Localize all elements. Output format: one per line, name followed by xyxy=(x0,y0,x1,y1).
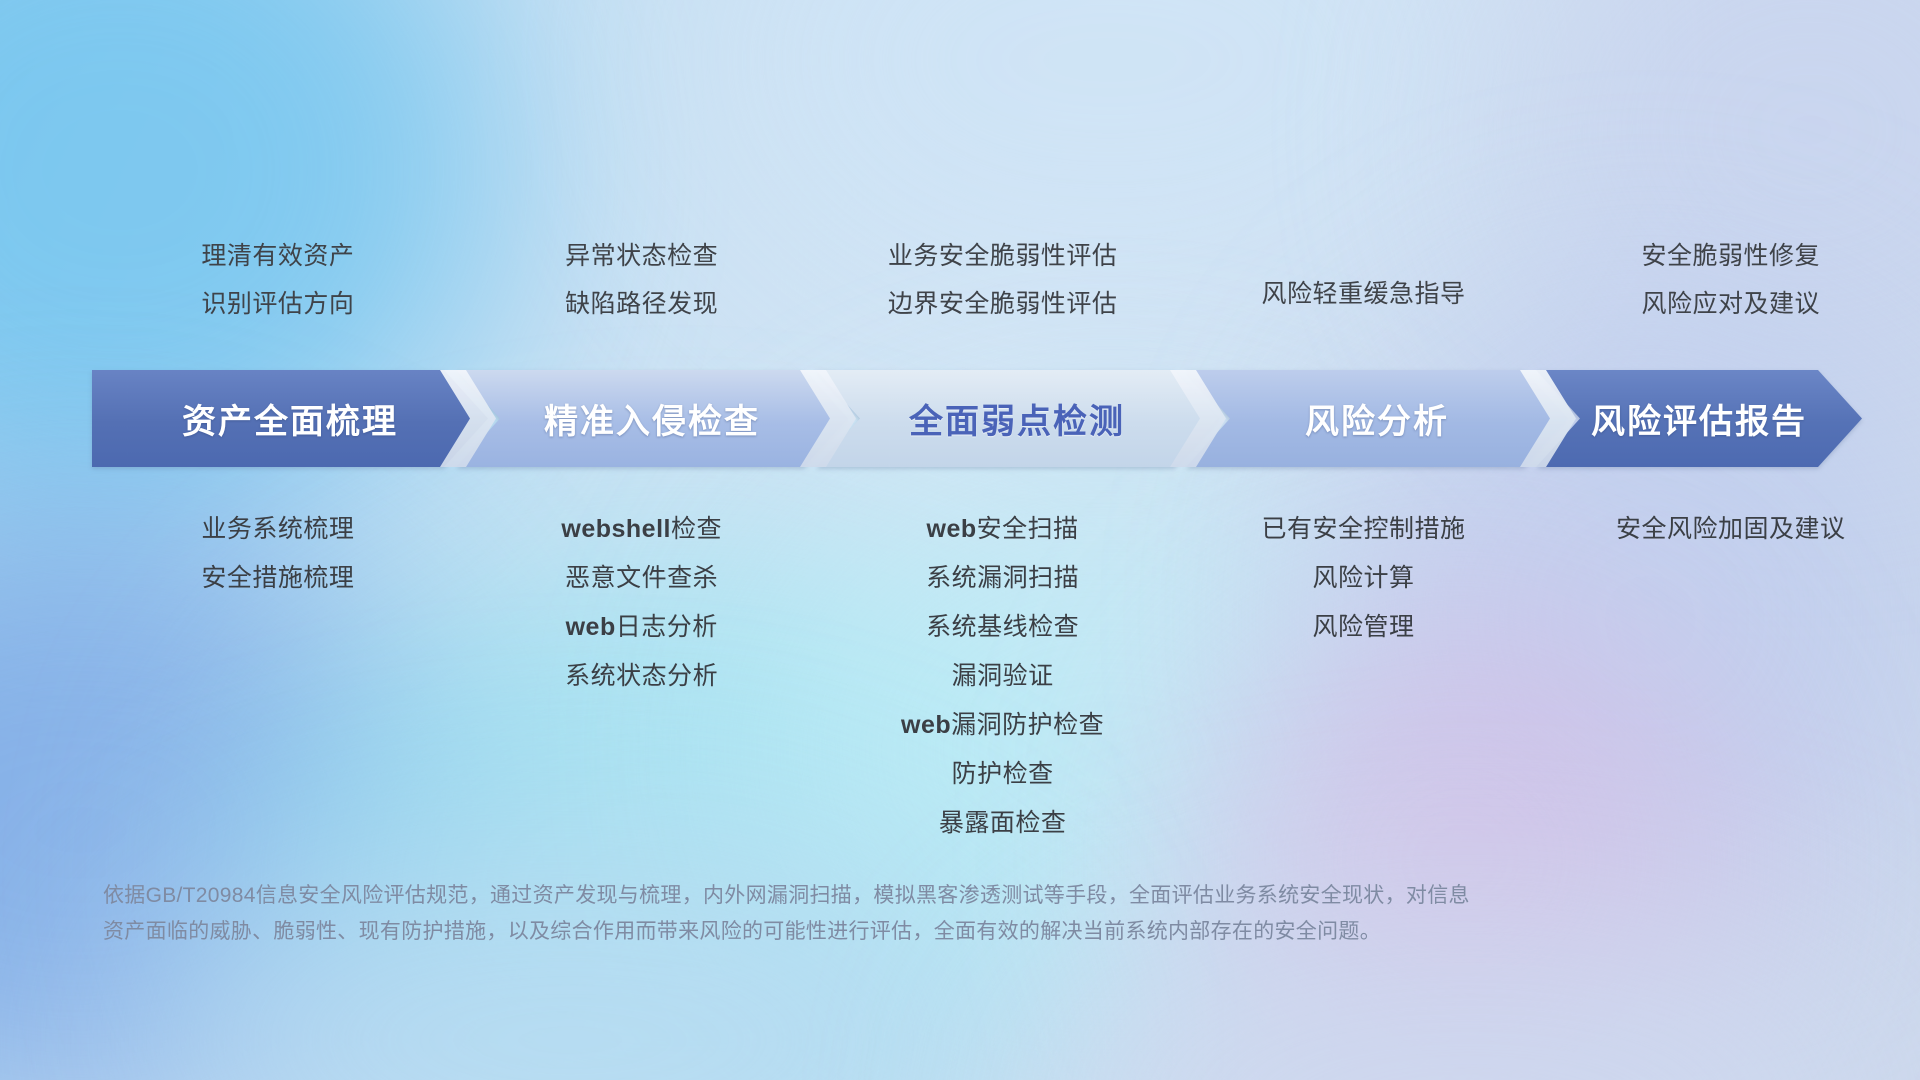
bottom-item: 已有安全控制措施 xyxy=(1185,505,1541,554)
stage-title: 精准入侵检查 xyxy=(544,394,760,443)
bottom-item: 风险计算 xyxy=(1185,554,1541,603)
bottom-item: 安全风险加固及建议 xyxy=(1541,505,1920,554)
stage-title: 风险分析 xyxy=(1305,394,1449,443)
top-column-risk-report: 安全脆弱性修复 风险应对及建议 xyxy=(1541,232,1920,328)
bottom-item: web日志分析 xyxy=(464,603,820,652)
stage-chevron-risk-analysis[interactable]: 风险分析 xyxy=(1186,370,1568,467)
bottom-column-asset-inventory: 业务系统梳理 安全措施梳理 xyxy=(92,505,464,603)
top-item: 风险轻重缓急指导 xyxy=(1185,270,1541,318)
bottom-column-risk-report: 安全风险加固及建议 xyxy=(1541,505,1920,554)
bottom-item: webshell检查 xyxy=(464,505,820,554)
top-item: 风险应对及建议 xyxy=(1541,280,1920,328)
bottom-column-risk-analysis: 已有安全控制措施 风险计算 风险管理 xyxy=(1185,505,1541,652)
top-column-intrusion-check: 异常状态检查 缺陷路径发现 xyxy=(464,232,820,328)
bottom-detail-row: 业务系统梳理 安全措施梳理 webshell检查 恶意文件查杀 web日志分析 … xyxy=(0,505,1920,848)
top-item: 识别评估方向 xyxy=(92,280,464,328)
stage-title: 风险评估报告 xyxy=(1591,394,1807,443)
stage-title: 全面弱点检测 xyxy=(909,394,1125,443)
bottom-item: 暴露面检查 xyxy=(820,799,1186,848)
stage-chevron-asset-inventory[interactable]: 资产全面梳理 xyxy=(92,370,488,467)
footer-line: 依据GB/T20984信息安全风险评估规范，通过资产发现与梳理，内外网漏洞扫描，… xyxy=(103,878,1623,914)
process-diagram: 理清有效资产 识别评估方向 异常状态检查 缺陷路径发现 业务安全脆弱性评估 边界… xyxy=(0,0,1920,1080)
top-column-weakness-detection: 业务安全脆弱性评估 边界安全脆弱性评估 xyxy=(820,232,1186,328)
top-item: 边界安全脆弱性评估 xyxy=(820,280,1186,328)
stage-chevron-intrusion-check[interactable]: 精准入侵检查 xyxy=(456,370,848,467)
bottom-item: 安全措施梳理 xyxy=(92,554,464,603)
bottom-item: 漏洞验证 xyxy=(820,652,1186,701)
stage-title: 资产全面梳理 xyxy=(182,394,398,443)
bottom-item: web漏洞防护检查 xyxy=(820,701,1186,750)
bottom-item: 系统漏洞扫描 xyxy=(820,554,1186,603)
bottom-item: 防护检查 xyxy=(820,750,1186,799)
top-item: 理清有效资产 xyxy=(92,232,464,280)
bottom-item: 系统状态分析 xyxy=(464,652,820,701)
top-item: 缺陷路径发现 xyxy=(464,280,820,328)
bottom-item: web安全扫描 xyxy=(820,505,1186,554)
bottom-item: 风险管理 xyxy=(1185,603,1541,652)
bottom-item: 恶意文件查杀 xyxy=(464,554,820,603)
bottom-item: 系统基线检查 xyxy=(820,603,1186,652)
stage-chevron-weakness-detection[interactable]: 全面弱点检测 xyxy=(816,370,1218,467)
stage-chevron-risk-report[interactable]: 风险评估报告 xyxy=(1536,370,1862,467)
footer-description: 依据GB/T20984信息安全风险评估规范，通过资产发现与梳理，内外网漏洞扫描，… xyxy=(103,878,1623,950)
footer-line: 资产面临的威胁、脆弱性、现有防护措施，以及综合作用而带来风险的可能性进行评估，全… xyxy=(103,914,1623,950)
top-column-risk-analysis: 风险轻重缓急指导 xyxy=(1185,232,1541,318)
top-item: 异常状态检查 xyxy=(464,232,820,280)
bottom-column-intrusion-check: webshell检查 恶意文件查杀 web日志分析 系统状态分析 xyxy=(464,505,820,701)
stage-banner: 资产全面梳理 精准入侵检查 全面弱点检测 风险分析 风险评估报告 xyxy=(92,370,1862,467)
top-description-row: 理清有效资产 识别评估方向 异常状态检查 缺陷路径发现 业务安全脆弱性评估 边界… xyxy=(0,232,1920,328)
top-item: 安全脆弱性修复 xyxy=(1541,232,1920,280)
bottom-column-weakness-detection: web安全扫描 系统漏洞扫描 系统基线检查 漏洞验证 web漏洞防护检查 防护检… xyxy=(820,505,1186,848)
top-item: 业务安全脆弱性评估 xyxy=(820,232,1186,280)
top-column-asset-inventory: 理清有效资产 识别评估方向 xyxy=(92,232,464,328)
bottom-item: 业务系统梳理 xyxy=(92,505,464,554)
